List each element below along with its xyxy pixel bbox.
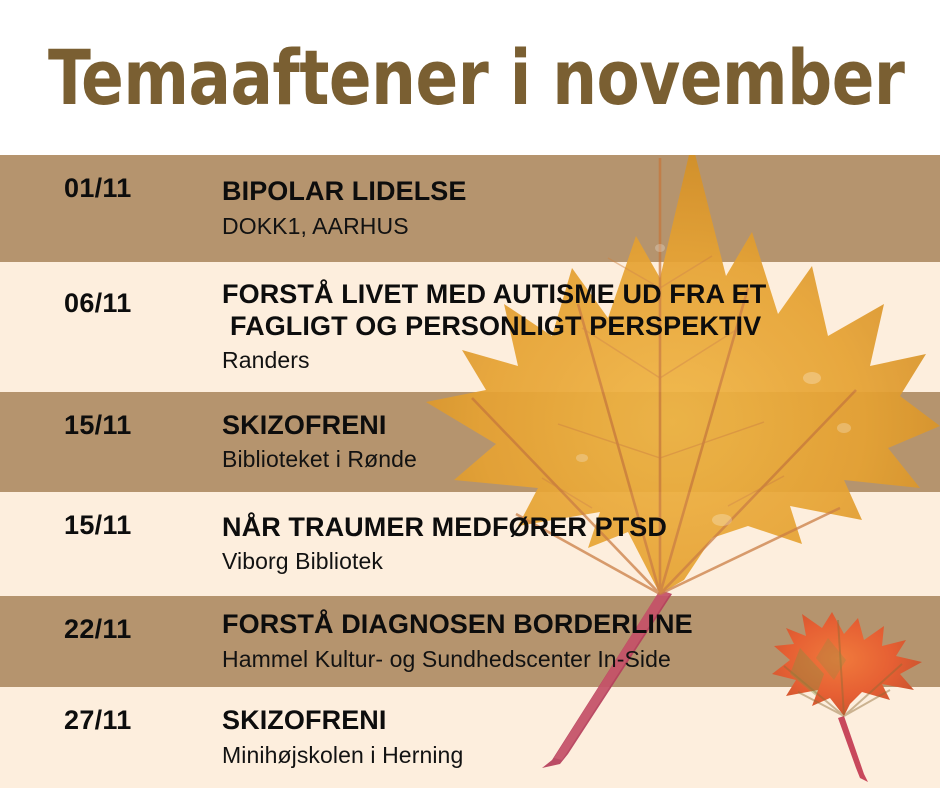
poster-canvas: Temaaftener i november 01/11BIPOLAR LIDE… xyxy=(0,0,940,788)
event-venue: Hammel Kultur- og Sundhedscenter In-Side xyxy=(222,645,922,674)
event-title: NÅR TRAUMER MEDFØRER PTSD xyxy=(222,512,922,543)
event-date: 15/11 xyxy=(0,392,222,441)
event-venue: Minihøjskolen i Herning xyxy=(222,741,922,770)
event-row: 15/11NÅR TRAUMER MEDFØRER PTSDViborg Bib… xyxy=(0,492,940,596)
event-details: BIPOLAR LIDELSEDOKK1, AARHUS xyxy=(222,176,940,240)
event-venue: Randers xyxy=(222,346,922,375)
event-details: NÅR TRAUMER MEDFØRER PTSDViborg Bibliote… xyxy=(222,512,940,576)
event-date: 06/11 xyxy=(0,262,222,319)
event-row: 22/11FORSTÅ DIAGNOSEN BORDERLINEHammel K… xyxy=(0,596,940,687)
event-row: 01/11BIPOLAR LIDELSEDOKK1, AARHUS xyxy=(0,155,940,262)
event-title: SKIZOFRENI xyxy=(222,410,922,441)
event-venue: Viborg Bibliotek xyxy=(222,547,922,576)
event-row: 15/11SKIZOFRENIBiblioteket i Rønde xyxy=(0,392,940,492)
title-bar: Temaaftener i november xyxy=(0,0,940,155)
event-title-line: FAGLIGT OG PERSONLIGT PERSPEKTIV xyxy=(230,311,922,342)
event-title-line: FORSTÅ LIVET MED AUTISME UD FRA ET xyxy=(222,279,922,310)
event-date: 01/11 xyxy=(0,155,222,204)
event-title: FORSTÅ DIAGNOSEN BORDERLINE xyxy=(222,609,922,640)
event-date: 22/11 xyxy=(0,596,222,645)
page-title: Temaaftener i november xyxy=(48,40,905,116)
event-title: FORSTÅ LIVET MED AUTISME UD FRA ETFAGLIG… xyxy=(222,279,922,342)
event-details: FORSTÅ LIVET MED AUTISME UD FRA ETFAGLIG… xyxy=(222,279,940,374)
event-title: SKIZOFRENI xyxy=(222,705,922,736)
event-details: SKIZOFRENIMinihøjskolen i Herning xyxy=(222,705,940,769)
event-row: 27/11SKIZOFRENIMinihøjskolen i Herning xyxy=(0,687,940,788)
event-date: 15/11 xyxy=(0,492,222,541)
event-date: 27/11 xyxy=(0,687,222,736)
event-title: BIPOLAR LIDELSE xyxy=(222,176,922,207)
event-row: 06/11FORSTÅ LIVET MED AUTISME UD FRA ETF… xyxy=(0,262,940,392)
event-venue: Biblioteket i Rønde xyxy=(222,445,922,474)
event-venue: DOKK1, AARHUS xyxy=(222,212,922,241)
event-details: FORSTÅ DIAGNOSEN BORDERLINEHammel Kultur… xyxy=(222,609,940,673)
event-details: SKIZOFRENIBiblioteket i Rønde xyxy=(222,410,940,474)
